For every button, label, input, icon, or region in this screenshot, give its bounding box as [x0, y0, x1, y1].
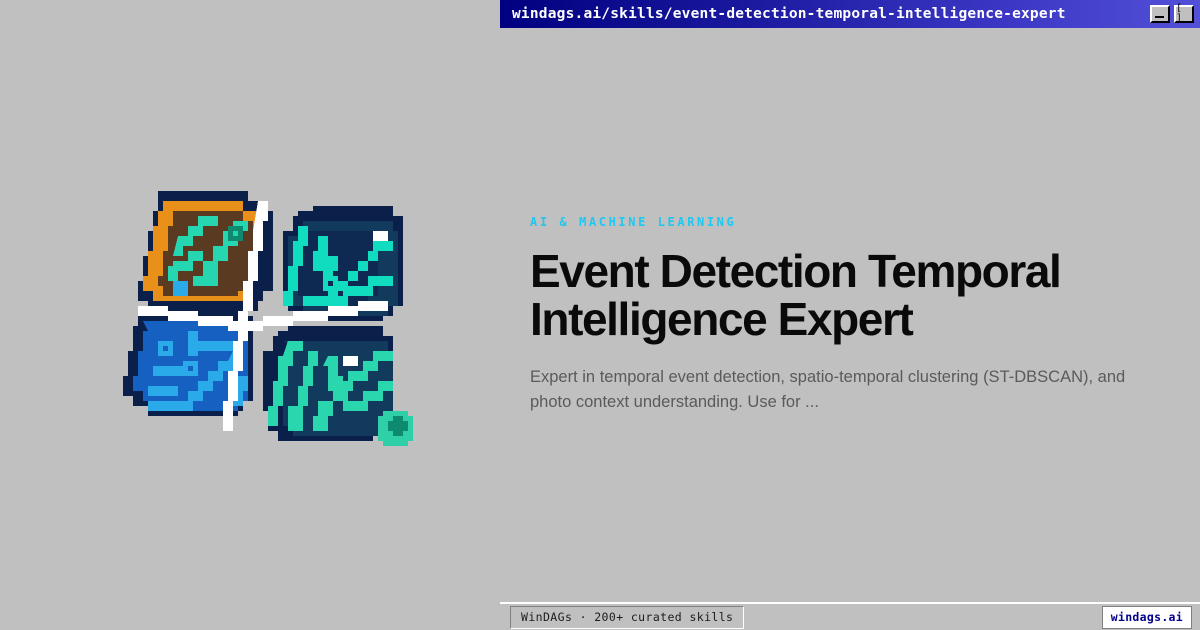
brand-badge[interactable]: windags.ai: [1102, 606, 1192, 629]
category-label: AI & MACHINE LEARNING: [530, 215, 1170, 229]
logo-container: [0, 0, 500, 630]
logo-quadrant-bottom-right: [263, 326, 393, 441]
skill-content: AI & MACHINE LEARNING Event Detection Te…: [530, 0, 1170, 630]
status-text: WinDAGs · 200+ curated skills: [510, 606, 744, 629]
page-title: Event Detection Temporal Intelligence Ex…: [530, 247, 1090, 343]
windags-pixel-flag-logo: [88, 171, 418, 461]
restore-button[interactable]: [ ]: [1174, 5, 1194, 23]
footer-statusbar: WinDAGs · 200+ curated skills windags.ai: [500, 602, 1200, 630]
skill-description: Expert in temporal event detection, spat…: [530, 365, 1155, 415]
logo-plus-badge: [378, 411, 413, 446]
restore-icon: [ ]: [1176, 4, 1192, 24]
